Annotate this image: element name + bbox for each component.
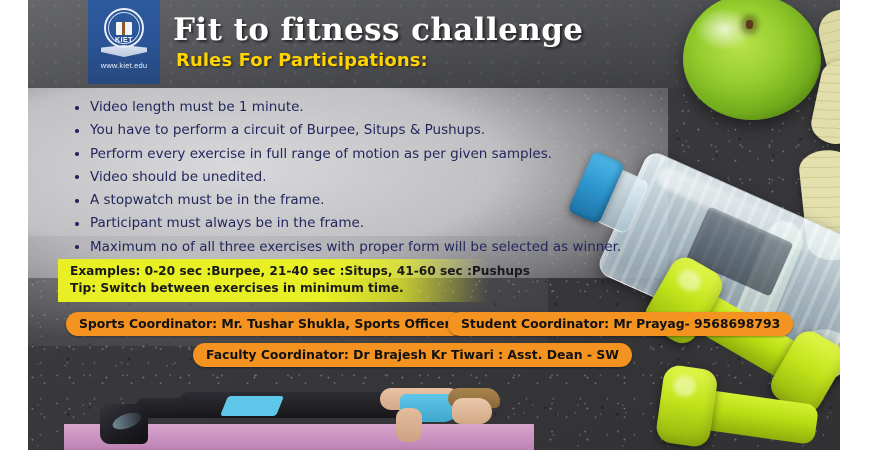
apple-stem [746, 20, 753, 29]
poster-background: KIET www.kiet.edu Fit to fitness challen… [28, 0, 840, 450]
frame-border-right [840, 0, 870, 450]
green-apple-image [683, 0, 821, 120]
plank-exercise-photo [28, 378, 548, 450]
frame-border-left [0, 0, 28, 450]
logo-website-label: www.kiet.edu [101, 61, 148, 70]
athlete-legging-stripe [220, 396, 284, 416]
rule-item: Maximum no of all three exercises with p… [72, 236, 672, 258]
kiet-logo: KIET www.kiet.edu [88, 0, 160, 84]
student-coordinator-pill: Student Coordinator: Mr Prayag- 95686987… [448, 312, 793, 336]
rule-item: Video should be unedited. [72, 166, 672, 188]
athlete-arm [396, 408, 422, 442]
examples-line: Examples: 0-20 sec :Burpee, 21-40 sec :S… [70, 263, 478, 280]
rule-item: Video length must be 1 minute. [72, 96, 672, 118]
dumbbell-head-left [655, 364, 719, 449]
faculty-coordinator-pill: Faculty Coordinator: Dr Brajesh Kr Tiwar… [193, 343, 632, 367]
crest-icon: KIET [100, 7, 148, 57]
rule-item: Perform every exercise in full range of … [72, 143, 672, 165]
rule-item: You have to perform a circuit of Burpee,… [72, 119, 672, 141]
fitness-challenge-poster: KIET www.kiet.edu Fit to fitness challen… [0, 0, 870, 450]
tip-line: Tip: Switch between exercises in minimum… [70, 280, 478, 297]
open-book-icon [116, 22, 132, 35]
crest-ribbon [101, 45, 147, 57]
sports-coordinator-pill: Sports Coordinator: Mr. Tushar Shukla, S… [66, 312, 464, 336]
rule-item: A stopwatch must be in the frame. [72, 189, 672, 211]
crest-name-label: KIET [100, 37, 148, 44]
poster-title: Fit to fitness challenge [173, 12, 583, 48]
athlete-head [452, 398, 492, 424]
rule-item: Participant must always be in the frame. [72, 212, 672, 234]
athlete-torso [178, 392, 408, 418]
examples-highlight-box: Examples: 0-20 sec :Burpee, 21-40 sec :S… [58, 259, 488, 302]
rules-list: Video length must be 1 minute. You have … [72, 96, 672, 259]
poster-subtitle: Rules For Participations: [176, 50, 428, 71]
